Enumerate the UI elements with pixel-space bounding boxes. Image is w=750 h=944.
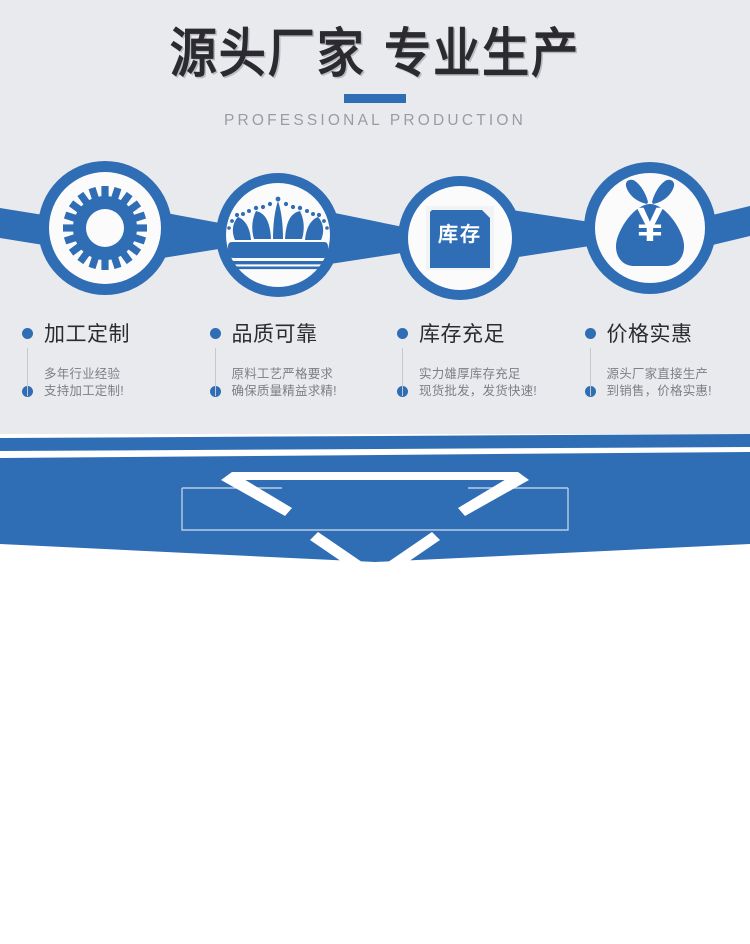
feature-footer: 实力雄厚库存充足 现货批发，发货快速! (397, 366, 563, 400)
feature-header: 库存充足 (397, 318, 563, 348)
bullet-dot-icon (210, 328, 221, 339)
yen-symbol: ¥ (620, 202, 680, 250)
feature-footer: 原料工艺严格要求 确保质量精益求精! (210, 366, 376, 400)
feature-desc-line2: 到销售，价格实惠! (607, 384, 712, 398)
feature-item-2: 品质可靠 原料工艺严格要求 确保质量精益求精! (188, 318, 376, 428)
feature-icon-1 (38, 161, 172, 295)
bullet-dot-icon (585, 328, 596, 339)
feature-icon-2 (216, 173, 340, 297)
product-showcase-banner: 产品展示 (0, 434, 750, 596)
banner-body (0, 452, 750, 562)
banner-top-strip (0, 434, 750, 451)
feature-desc-line1: 多年行业经验 (44, 367, 120, 381)
feature-description: 源头厂家直接生产 到销售，价格实惠! (607, 366, 712, 400)
feature-header: 品质可靠 (210, 318, 376, 348)
feature-list: 加工定制 多年行业经验 支持加工定制! 品质可靠 原料工艺严格要求 (0, 318, 750, 428)
feature-item-4: 价格实惠 源头厂家直接生产 到销售，价格实惠! (563, 318, 750, 428)
feature-item-3: 库存充足 实力雄厚库存充足 现货批发，发货快速! (375, 318, 563, 428)
feature-description: 原料工艺严格要求 确保质量精益求精! (232, 366, 337, 400)
banner-title: 产品展示 (0, 896, 750, 944)
feature-title: 库存充足 (419, 318, 505, 348)
feature-description: 实力雄厚库存充足 现货批发，发货快速! (419, 366, 537, 400)
feature-item-1: 加工定制 多年行业经验 支持加工定制! (0, 318, 188, 428)
feature-description: 多年行业经验 支持加工定制! (44, 366, 124, 400)
icon-chain: 库存 ¥ (0, 140, 750, 320)
bullet-dot-icon (397, 328, 408, 339)
feature-footer: 多年行业经验 支持加工定制! (22, 366, 188, 400)
feature-desc-line2: 现货批发，发货快速! (419, 384, 537, 398)
feature-desc-line2: 确保质量精益求精! (232, 384, 337, 398)
page-title: 源头厂家 专业生产 (0, 22, 750, 87)
feature-header: 价格实惠 (585, 318, 750, 348)
feature-title: 品质可靠 (232, 318, 318, 348)
feature-desc-line1: 原料工艺严格要求 (232, 367, 334, 381)
connector-line (27, 348, 28, 396)
feature-desc-line2: 支持加工定制! (44, 384, 124, 398)
feature-title: 价格实惠 (607, 318, 693, 348)
feature-desc-line1: 实力雄厚库存充足 (419, 367, 521, 381)
feature-title: 加工定制 (44, 318, 130, 348)
page-subtitle: PROFESSIONAL PRODUCTION (0, 112, 750, 130)
connector-line (215, 348, 216, 396)
feature-footer: 源头厂家直接生产 到销售，价格实惠! (585, 366, 750, 400)
connector-line (590, 348, 591, 396)
title-underline-bar (344, 94, 406, 103)
header: 源头厂家 专业生产 PROFESSIONAL PRODUCTION (0, 22, 750, 130)
feature-desc-line1: 源头厂家直接生产 (607, 367, 709, 381)
feature-header: 加工定制 (22, 318, 188, 348)
inventory-box-label: 库存 (430, 218, 490, 247)
connector-line (402, 348, 403, 396)
bullet-dot-icon (22, 328, 33, 339)
banner-page: 源头厂家 专业生产 PROFESSIONAL PRODUCTION (0, 0, 750, 596)
